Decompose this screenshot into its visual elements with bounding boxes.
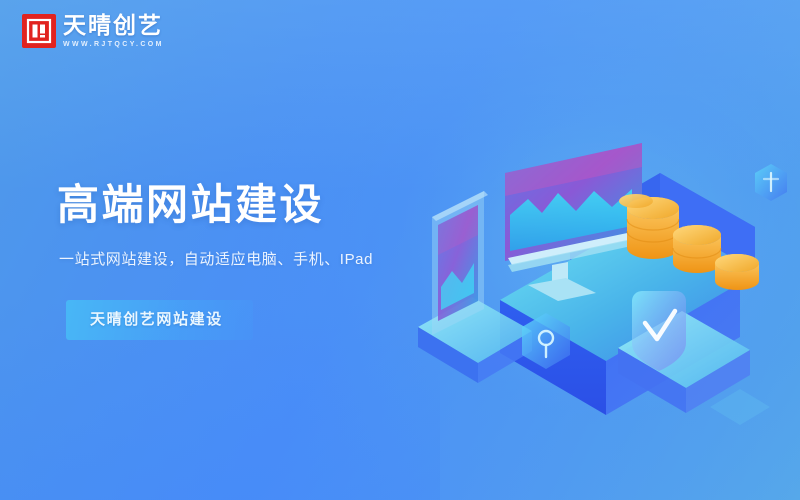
hero-banner: 天晴创艺 WWW.RJTQCY.COM 高端网站建设 一站式网站建设，自动适应电… — [0, 0, 800, 500]
logo-company-name: 天晴创艺 — [63, 14, 164, 37]
logo-mark-icon — [22, 14, 56, 48]
hero-copy-block: 高端网站建设 一站式网站建设，自动适应电脑、手机、IPad 天晴创艺网站建设 — [57, 182, 477, 340]
hero-subheadline: 一站式网站建设，自动适应电脑、手机、IPad — [59, 249, 477, 270]
hero-headline: 高端网站建设 — [57, 182, 477, 227]
logo-website-url: WWW.RJTQCY.COM — [63, 41, 164, 48]
site-logo[interactable]: 天晴创艺 WWW.RJTQCY.COM — [22, 14, 164, 48]
hero-cta-button[interactable]: 天晴创艺网站建设 — [66, 300, 253, 340]
